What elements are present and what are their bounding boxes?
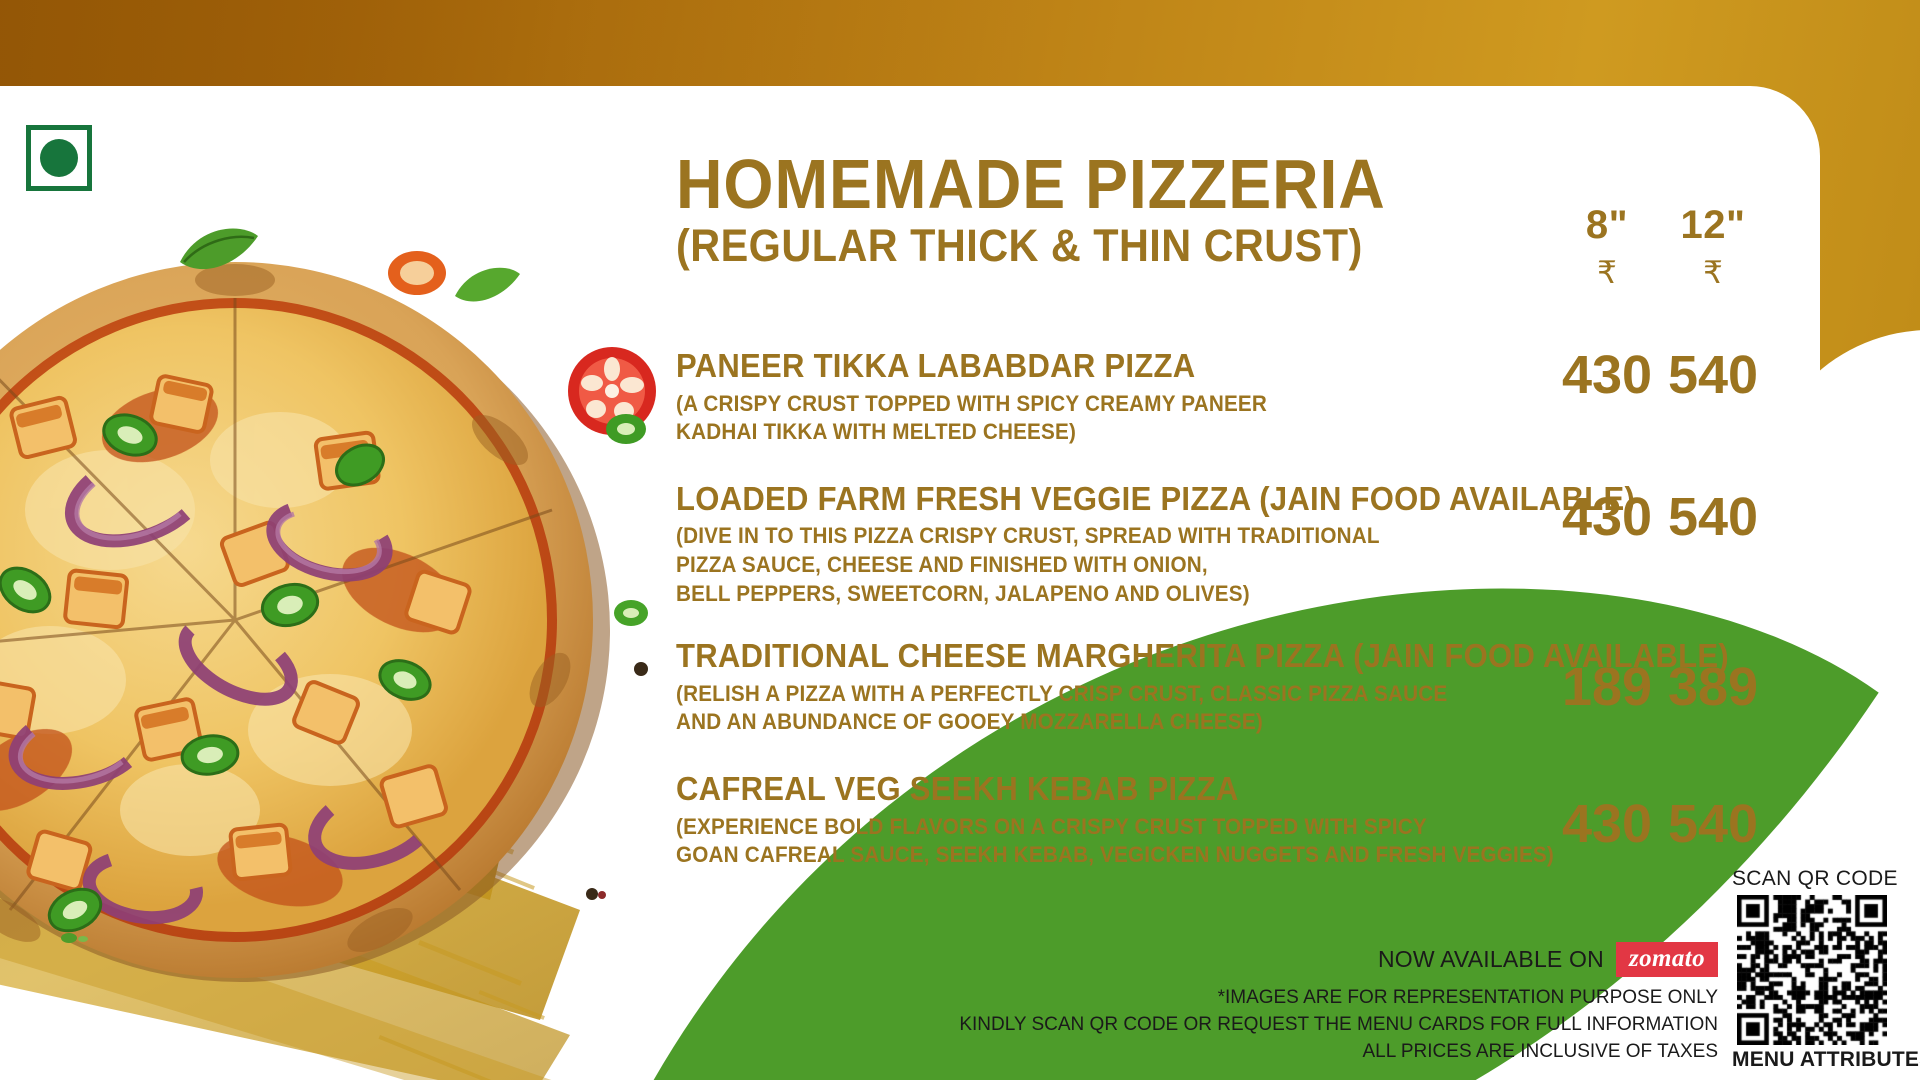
price-spacer — [1654, 797, 1666, 851]
price-row: 189 389 — [1560, 660, 1800, 714]
price-row: 430 540 — [1560, 490, 1800, 544]
price-row: 430 540 — [1560, 348, 1800, 402]
menu-board: HOMEMADE PIZZERIA (REGULAR THICK & THIN … — [0, 0, 1920, 1080]
price-8in: 430 — [1560, 797, 1654, 851]
qr-code-icon[interactable] — [1737, 895, 1887, 1045]
price-12in: 540 — [1666, 490, 1760, 544]
qr-caption-top: SCAN QR CODE — [1732, 867, 1892, 891]
size-label-12in: 12" — [1666, 205, 1760, 245]
price-8in: 430 — [1560, 348, 1654, 402]
price-spacer — [1654, 348, 1666, 402]
price-12in: 540 — [1666, 797, 1760, 851]
item-description-line: BELL PEPPERS, SWEETCORN, JALAPENO AND OL… — [676, 580, 1785, 609]
price-12in: 540 — [1666, 348, 1760, 402]
size-label-row: 8" 12" — [1560, 205, 1760, 245]
price-8in: 430 — [1560, 490, 1654, 544]
qr-caption-bottom: MENU ATTRIBUTES — [1732, 1048, 1892, 1072]
vegetarian-indicator-icon — [26, 125, 92, 191]
zomato-logo[interactable]: zomato — [1616, 942, 1718, 977]
price-12in: 389 — [1666, 660, 1760, 714]
footer-text-block: NOW AVAILABLE ON zomato *IMAGES ARE FOR … — [959, 942, 1732, 1072]
price-8in: 189 — [1560, 660, 1654, 714]
size-label-8in: 8" — [1560, 205, 1654, 245]
currency-symbol-row: ₹ ₹ — [1560, 257, 1760, 288]
price-spacer — [1654, 660, 1666, 714]
rupee-icon-8in: ₹ — [1560, 257, 1654, 288]
disclaimer-line: ALL PRICES ARE INCLUSIVE OF TAXES — [959, 1039, 1718, 1066]
veg-dot — [40, 139, 78, 177]
disclaimer-line: *IMAGES ARE FOR REPRESENTATION PURPOSE O… — [959, 985, 1718, 1012]
rupee-icon-12in: ₹ — [1666, 257, 1760, 288]
availability-row: NOW AVAILABLE ON zomato — [959, 942, 1718, 977]
footer: NOW AVAILABLE ON zomato *IMAGES ARE FOR … — [959, 867, 1892, 1072]
qr-code-block[interactable]: SCAN QR CODE MENU ATTRIBUTES — [1732, 867, 1892, 1072]
item-description-line: PIZZA SAUCE, CHEESE AND FINISHED WITH ON… — [676, 551, 1785, 580]
item-description-line: KADHAI TIKKA WITH MELTED CHEESE) — [676, 418, 1785, 447]
price-row: 430 540 — [1560, 797, 1800, 851]
availability-label: NOW AVAILABLE ON — [1378, 946, 1604, 973]
price-spacer — [1654, 490, 1666, 544]
pizza-photo — [0, 210, 650, 1000]
disclaimer-line: KINDLY SCAN QR CODE OR REQUEST THE MENU … — [959, 1012, 1718, 1039]
price-column-headers: 8" 12" ₹ ₹ — [1560, 205, 1800, 288]
